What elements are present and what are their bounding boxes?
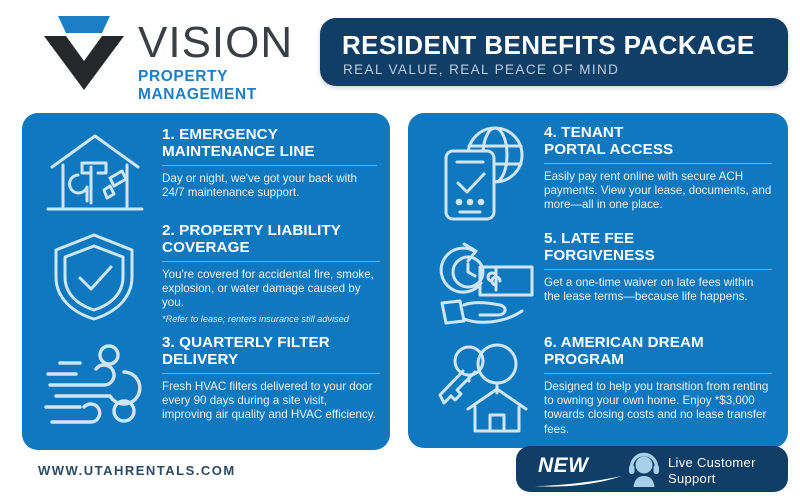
benefit-2-description: You're covered for accidental fire, smok… <box>162 268 380 311</box>
benefit-4-body: 4. TENANT PORTAL ACCESS Easily pay rent … <box>544 125 772 213</box>
infographic-canvas: VISION PROPERTY MANAGEMENT RESIDENT BENE… <box>0 0 800 500</box>
title-banner: RESIDENT BENEFITS PACKAGE REAL VALUE, RE… <box>320 18 788 86</box>
benefit-3-divider <box>162 373 380 374</box>
header: VISION PROPERTY MANAGEMENT RESIDENT BENE… <box>0 0 800 105</box>
benefit-6-title-line2: PROGRAM <box>544 352 772 369</box>
benefits-panel-right: 4. TENANT PORTAL ACCESS Easily pay rent … <box>408 113 788 448</box>
benefit-item-6: 6. AMERICAN DREAM PROGRAM Designed to he… <box>422 333 778 443</box>
benefit-5-title-line2: FORGIVENESS <box>544 248 772 265</box>
headset-agent-icon <box>626 452 662 488</box>
benefit-2-title-line2: COVERAGE <box>162 240 380 257</box>
airflow-wind-icon <box>36 339 154 435</box>
benefit-item-5: 5. LATE FEE FORGIVENESS Get a one-time w… <box>422 229 778 333</box>
benefit-4-divider <box>544 163 772 164</box>
benefit-2-body: 2. PROPERTY LIABILITY COVERAGE You're co… <box>162 223 380 325</box>
benefit-3-title-line1: 3. QUARTERLY FILTER <box>162 335 380 352</box>
benefit-5-body: 5. LATE FEE FORGIVENESS Get a one-time w… <box>544 231 772 304</box>
page-title: RESIDENT BENEFITS PACKAGE <box>342 30 755 60</box>
benefit-3-body: 3. QUARTERLY FILTER DELIVERY Fresh HVAC … <box>162 335 380 423</box>
benefit-4-title-line1: 4. TENANT <box>544 125 772 142</box>
brand-logo: VISION PROPERTY MANAGEMENT <box>38 14 313 90</box>
benefit-1-title-line1: 1. EMERGENCY <box>162 127 377 144</box>
benefits-panel-left: 1. EMERGENCY MAINTENANCE LINE Day or nig… <box>22 113 390 450</box>
benefit-1-title-line2: MAINTENANCE LINE <box>162 144 377 161</box>
benefit-2-title-line1: 2. PROPERTY LIABILITY <box>162 223 380 240</box>
page-subtitle: REAL VALUE, REAL PEACE OF MIND <box>343 62 619 78</box>
benefit-4-title-line2: PORTAL ACCESS <box>544 142 772 159</box>
house-keys-icon <box>430 337 538 437</box>
hand-clock-money-icon <box>430 235 538 329</box>
swoosh-underline-icon <box>532 476 624 488</box>
benefit-3-description: Fresh HVAC filters delivered to your doo… <box>162 380 380 423</box>
benefit-item-1: 1. EMERGENCY MAINTENANCE LINE Day or nig… <box>36 123 381 221</box>
house-with-tools-icon <box>36 123 154 219</box>
benefit-1-body: 1. EMERGENCY MAINTENANCE LINE Day or nig… <box>162 127 377 200</box>
brand-name: VISION <box>138 20 313 66</box>
brand-logo-text: VISION PROPERTY MANAGEMENT <box>138 20 313 104</box>
benefit-3-title-line2: DELIVERY <box>162 352 380 369</box>
vision-v-logo-icon <box>38 16 130 90</box>
benefit-5-title-line1: 5. LATE FEE <box>544 231 772 248</box>
brand-tagline: PROPERTY MANAGEMENT <box>138 68 313 104</box>
benefit-5-divider <box>544 269 772 270</box>
benefit-1-divider <box>162 165 377 166</box>
benefit-1-description: Day or night, we've got your back with 2… <box>162 172 377 200</box>
website-url[interactable]: WWW.UTAHRENTALS.COM <box>38 463 236 478</box>
benefit-6-body: 6. AMERICAN DREAM PROGRAM Designed to he… <box>544 335 772 437</box>
benefit-6-divider <box>544 373 772 374</box>
benefit-2-note: *Refer to lease; renters insurance still… <box>162 313 380 325</box>
support-label: Live Customer Support <box>668 455 756 486</box>
benefit-5-description: Get a one-time waiver on late fees withi… <box>544 276 772 304</box>
benefit-4-description: Easily pay rent online with secure ACH p… <box>544 170 772 213</box>
shield-check-icon <box>44 229 144 325</box>
benefit-item-4: 4. TENANT PORTAL ACCESS Easily pay rent … <box>422 121 778 229</box>
new-label: NEW <box>538 454 589 478</box>
phone-globe-icon <box>432 125 538 225</box>
benefit-item-3: 3. QUARTERLY FILTER DELIVERY Fresh HVAC … <box>36 333 381 445</box>
benefit-6-description: Designed to help you transition from ren… <box>544 380 772 437</box>
support-label-line2: Support <box>668 471 756 487</box>
support-label-line1: Live Customer <box>668 455 756 471</box>
benefit-2-divider <box>162 261 380 262</box>
benefit-item-2: 2. PROPERTY LIABILITY COVERAGE You're co… <box>36 221 381 331</box>
benefit-6-title-line1: 6. AMERICAN DREAM <box>544 335 772 352</box>
live-support-badge[interactable]: NEW Live Customer Support <box>516 446 788 492</box>
